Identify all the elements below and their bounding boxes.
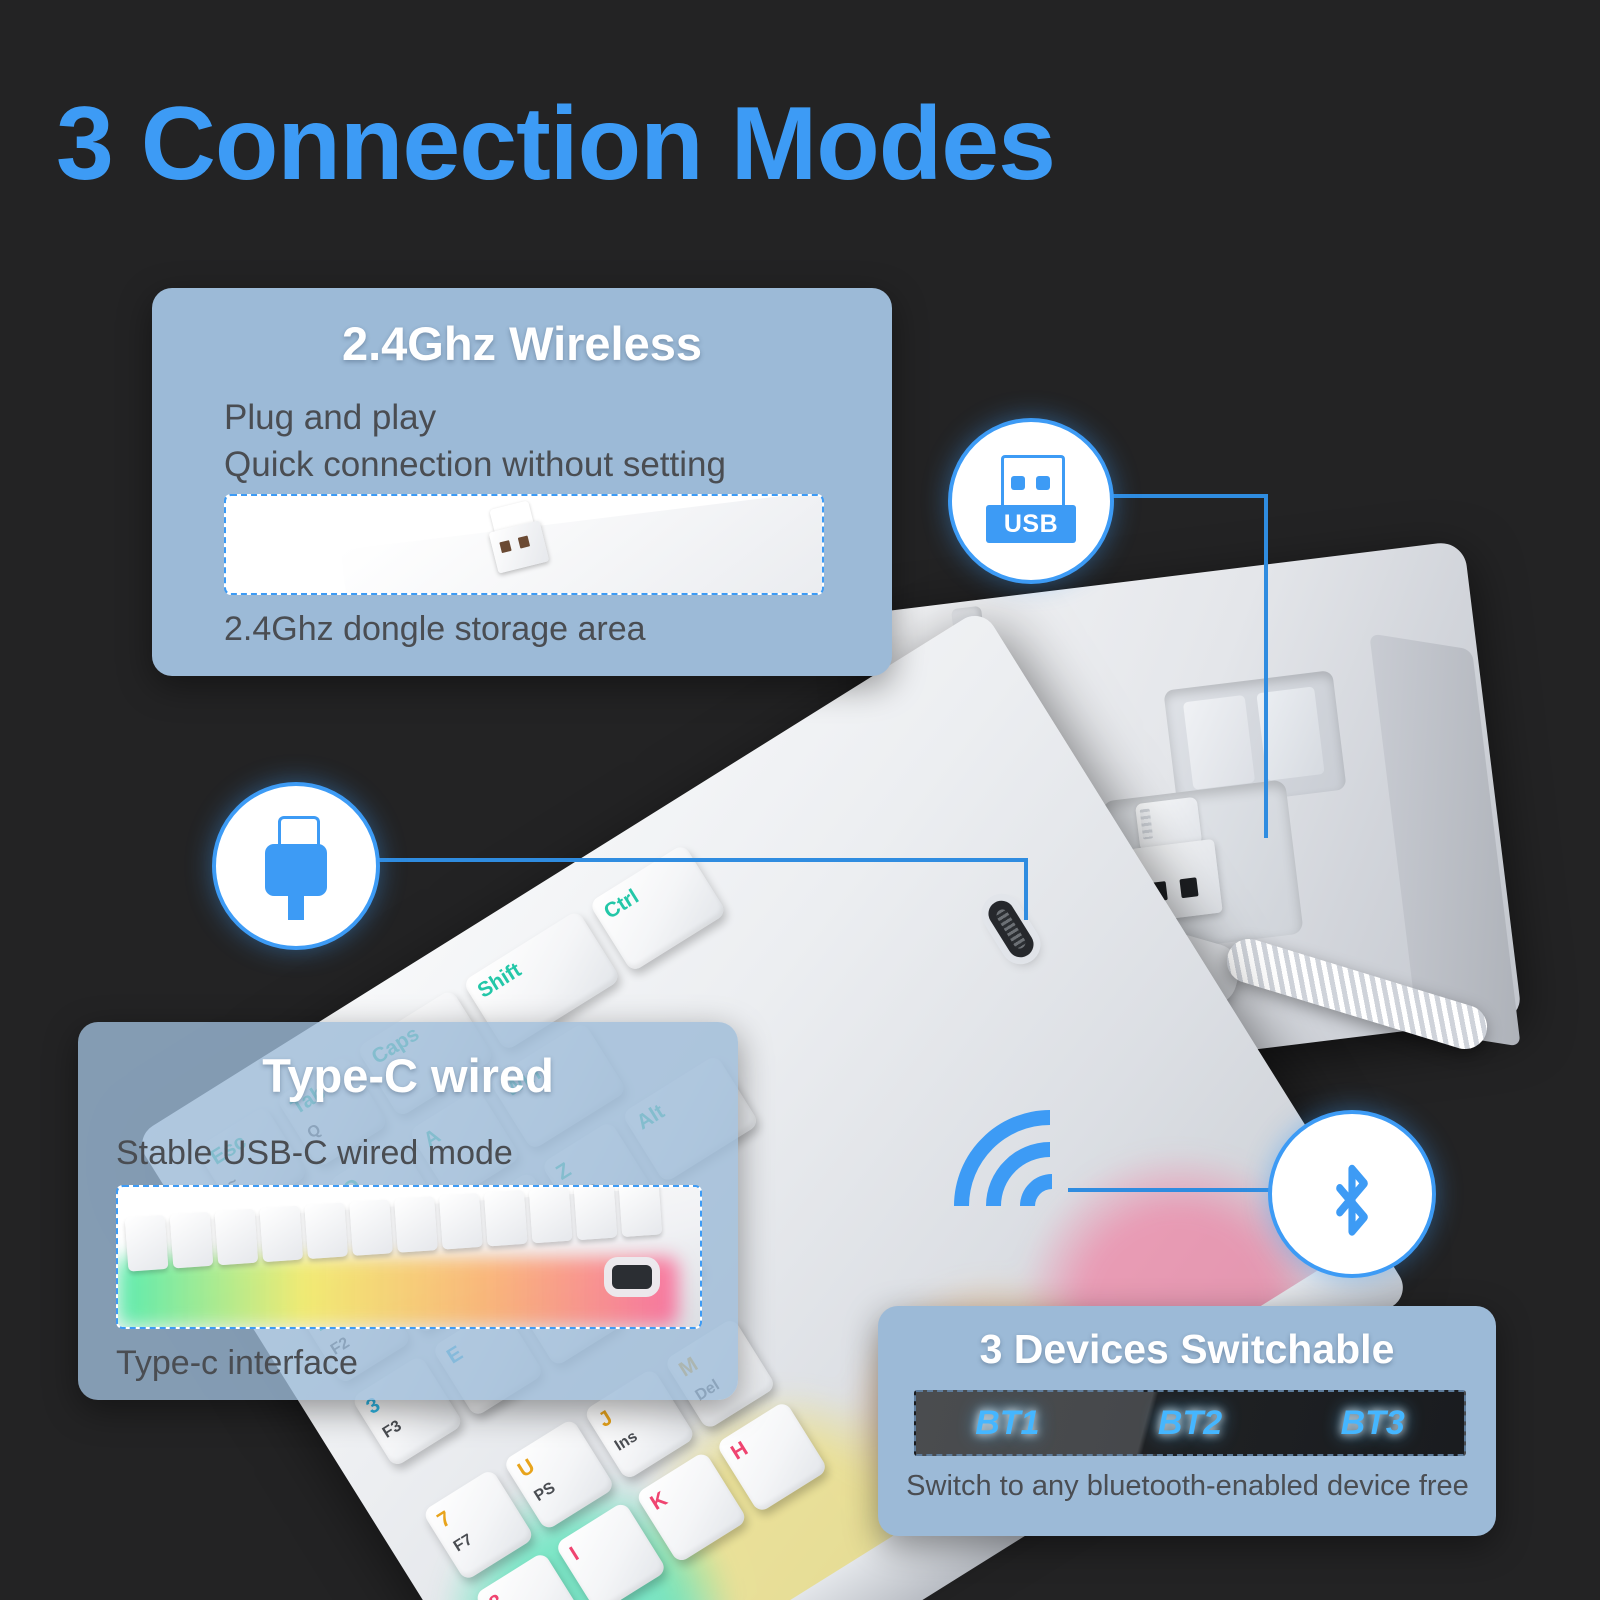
wireless-signal-waves-icon <box>930 1086 1110 1306</box>
card-typec-heading: Type-C wired <box>78 1048 738 1103</box>
card-bluetooth: 3 Devices Switchable BT1 BT2 BT3 Switch … <box>878 1306 1496 1536</box>
card-wireless-line2: Quick connection without setting <box>224 445 726 485</box>
page-title: 3 Connection Modes <box>56 92 1055 196</box>
card-bluetooth-heading: 3 Devices Switchable <box>878 1326 1496 1373</box>
card-wireless-caption: 2.4Ghz dongle storage area <box>224 610 646 649</box>
card-typec-line1: Stable USB-C wired mode <box>116 1134 513 1173</box>
card-bluetooth-caption: Switch to any bluetooth-enabled device f… <box>900 1470 1475 1503</box>
infographic-stage: Esc ~ Tab Q Caps Shift Ctrl <box>0 0 1600 1600</box>
connector-line-usb-horizontal <box>1106 494 1268 498</box>
bt-channel-2[interactable]: BT2 <box>1099 1404 1282 1443</box>
bluetooth-icon <box>1313 1145 1391 1243</box>
card-wireless-photo <box>224 494 824 595</box>
usb-c-connector-icon <box>261 816 331 916</box>
usb-dongle-icon: USB <box>988 455 1074 547</box>
card-typec-photo <box>116 1185 702 1329</box>
card-typec: Type-C wired Stable USB-C wired mode Typ… <box>78 1022 738 1400</box>
connector-line-usb-vertical <box>1264 494 1268 838</box>
bt-channel-1[interactable]: BT1 <box>916 1404 1099 1443</box>
bt-channel-3[interactable]: BT3 <box>1281 1404 1464 1443</box>
card-typec-caption: Type-c interface <box>116 1344 358 1383</box>
card-wireless: 2.4Ghz Wireless Plug and play Quick conn… <box>152 288 892 676</box>
bluetooth-channel-strip: BT1 BT2 BT3 <box>914 1390 1466 1456</box>
usb-badge[interactable]: USB <box>948 418 1114 584</box>
connector-line-typec-vertical <box>1024 858 1028 920</box>
bluetooth-badge[interactable] <box>1268 1110 1436 1278</box>
connector-line-typec-horizontal <box>370 858 1028 862</box>
usb-badge-label: USB <box>986 505 1076 543</box>
card-wireless-heading: 2.4Ghz Wireless <box>152 316 892 371</box>
inset-keyboard-body <box>341 494 824 595</box>
inset-type-c-port <box>612 1265 652 1289</box>
type-c-badge[interactable] <box>212 782 380 950</box>
inset-rgb-glow <box>118 1257 678 1327</box>
card-wireless-line1: Plug and play <box>224 398 436 438</box>
